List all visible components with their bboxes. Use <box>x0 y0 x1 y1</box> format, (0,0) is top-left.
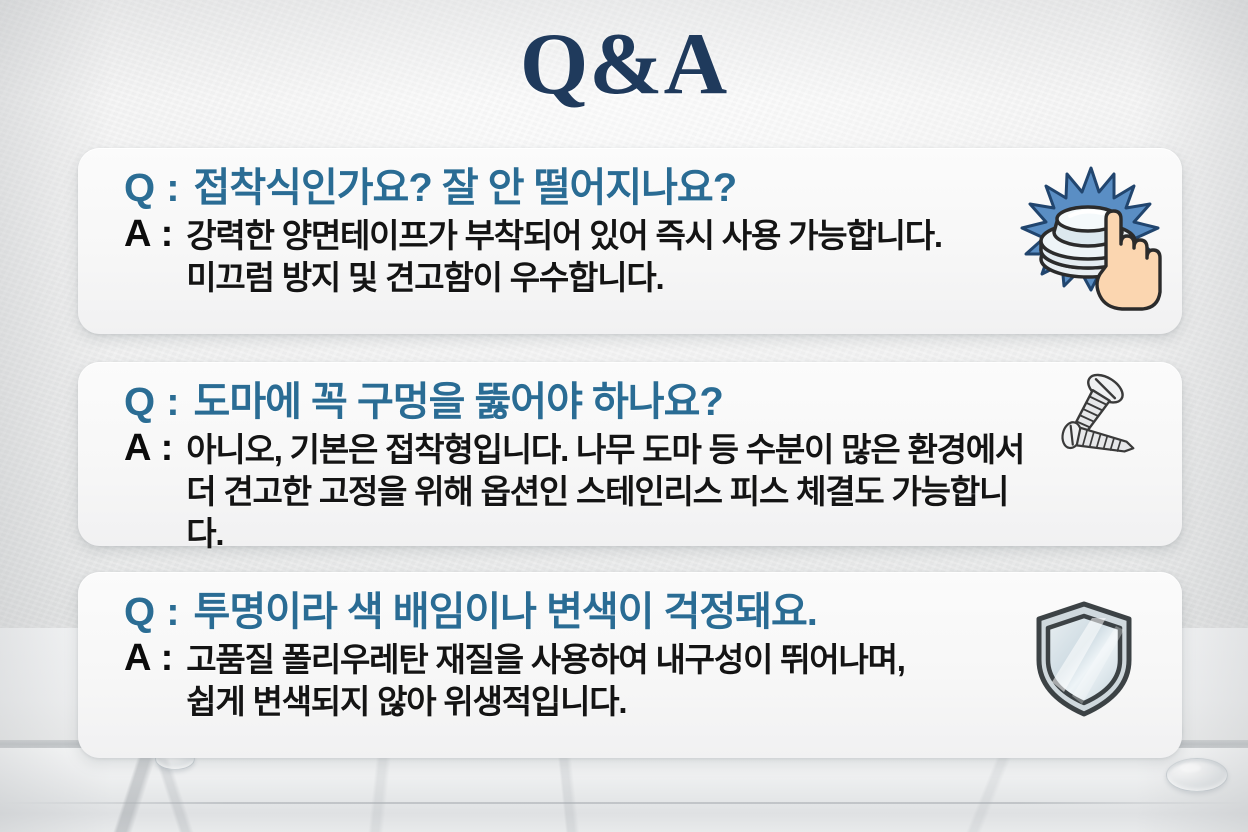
faq-card-3[interactable]: Q : 투명이라 색 배임이나 변색이 걱정돼요. A : 고품질 폴리우레탄 … <box>78 572 1182 758</box>
faq-card-2[interactable]: Q : 도마에 꼭 구멍을 뚫어야 하나요? A : 아니오, 기본은 접착형입… <box>78 362 1182 546</box>
faq-card-3-answer-row: A : 고품질 폴리우레탄 재질을 사용하여 내구성이 뛰어나며, 쉽게 변색되… <box>124 639 1032 723</box>
question-text: 도마에 꼭 구멍을 뚫어야 하나요? <box>194 382 723 423</box>
press-button-hand-icon <box>1016 162 1166 312</box>
question-text: 투명이라 색 배임이나 변색이 걱정돼요. <box>194 592 817 633</box>
page-title: Q&A <box>0 14 1248 115</box>
answer-marker: A : <box>124 429 186 467</box>
faq-card-1-answer-row: A : 강력한 양면테이프가 부착되어 있어 즉시 사용 가능합니다. 미끄럼 … <box>124 215 1032 299</box>
answer-text: 고품질 폴리우레탄 재질을 사용하여 내구성이 뛰어나며, 쉽게 변색되지 않아… <box>186 639 905 723</box>
faq-card-3-question-row: Q : 투명이라 색 배임이나 변색이 걱정돼요. <box>124 592 1032 633</box>
answer-marker: A : <box>124 639 186 677</box>
answer-line-1: 강력한 양면테이프가 부착되어 있어 즉시 사용 가능합니다. <box>186 217 942 254</box>
shield-icon-svg <box>1032 596 1136 720</box>
faq-card-1-question-row: Q : 접착식인가요? 잘 안 떨어지나요? <box>124 168 1032 209</box>
question-marker: Q : <box>124 382 194 422</box>
answer-line-1: 고품질 폴리우레탄 재질을 사용하여 내구성이 뛰어나며, <box>186 641 905 678</box>
faq-card-2-body: Q : 도마에 꼭 구멍을 뚫어야 하나요? A : 아니오, 기본은 접착형입… <box>124 382 1032 556</box>
faq-card-3-body: Q : 투명이라 색 배임이나 변색이 걱정돼요. A : 고품질 폴리우레탄 … <box>124 592 1032 723</box>
question-marker: Q : <box>124 168 194 208</box>
faq-card-2-answer-row: A : 아니오, 기본은 접착형입니다. 나무 도마 등 수분이 많은 환경에서… <box>124 429 1032 556</box>
press-button-hand-icon-svg <box>1016 162 1166 312</box>
slide-stage: Q&A Q : 접착식인가요? 잘 안 떨어지나요? A : 강력한 양면테이프… <box>0 0 1248 832</box>
shield-icon <box>1032 596 1136 720</box>
answer-line-2: 미끄럼 방지 및 견고함이 우수합니다. <box>186 257 942 299</box>
answer-text: 강력한 양면테이프가 부착되어 있어 즉시 사용 가능합니다. 미끄럼 방지 및… <box>186 215 942 299</box>
faq-card-2-question-row: Q : 도마에 꼭 구멍을 뚫어야 하나요? <box>124 382 1032 423</box>
question-text: 접착식인가요? 잘 안 떨어지나요? <box>194 168 737 209</box>
faq-card-1[interactable]: Q : 접착식인가요? 잘 안 떨어지나요? A : 강력한 양면테이프가 부착… <box>78 148 1182 334</box>
screws-icon-svg <box>1034 370 1144 470</box>
question-marker: Q : <box>124 592 194 632</box>
answer-marker: A : <box>124 215 186 253</box>
answer-text: 아니오, 기본은 접착형입니다. 나무 도마 등 수분이 많은 환경에서 더 견… <box>186 429 1032 556</box>
faq-card-1-body: Q : 접착식인가요? 잘 안 떨어지나요? A : 강력한 양면테이프가 부착… <box>124 168 1032 299</box>
answer-line-2: 쉽게 변색되지 않아 위생적입니다. <box>186 681 905 723</box>
screws-icon <box>1034 370 1144 470</box>
answer-line-2: 더 견고한 고정을 위해 옵션인 스테인리스 피스 체결도 가능합니다. <box>186 471 1032 555</box>
answer-line-1: 아니오, 기본은 접착형입니다. 나무 도마 등 수분이 많은 환경에서 <box>186 431 1024 468</box>
